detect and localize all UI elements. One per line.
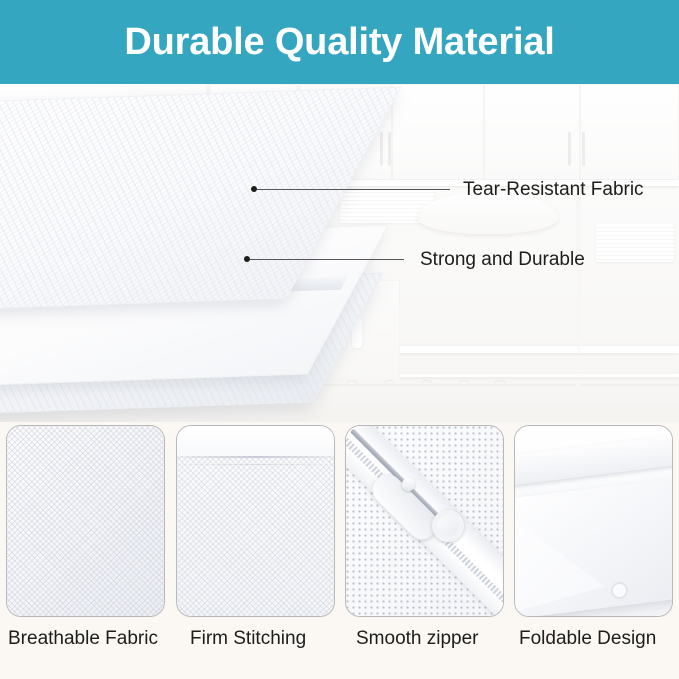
detail-panel-foldable-design[interactable] <box>514 425 673 617</box>
header-banner: Durable Quality Material <box>0 0 679 84</box>
caption-breathable-fabric: Breathable Fabric <box>8 629 158 648</box>
zipper-knob <box>402 478 415 491</box>
caption-foldable-design: Foldable Design <box>519 629 656 648</box>
fabric-hem <box>177 426 334 456</box>
product-infographic: Durable Quality Material <box>0 0 679 679</box>
zipper-pull-ring <box>432 510 464 542</box>
stitch-seam-line <box>177 464 334 465</box>
callout-leader-line <box>257 189 450 190</box>
detail-panel-breathable-fabric[interactable] <box>6 425 165 617</box>
detail-panel-smooth-zipper[interactable] <box>345 425 504 617</box>
hero-image: Tear-Resistant Fabric Strong and Durable <box>0 84 679 422</box>
detail-panel-firm-stitching[interactable] <box>176 425 335 617</box>
stitch-seam-line <box>177 456 334 458</box>
callout-group: Tear-Resistant Fabric Strong and Durable <box>0 84 679 422</box>
caption-group: Breathable Fabric Firm Stitching Smooth … <box>0 624 679 679</box>
page-title: Durable Quality Material <box>124 23 554 61</box>
caption-firm-stitching: Firm Stitching <box>190 629 306 648</box>
caption-smooth-zipper: Smooth zipper <box>356 629 479 648</box>
grommet-icon <box>611 582 628 599</box>
detail-panel-group <box>0 422 679 622</box>
callout-label-strong-durable: Strong and Durable <box>420 250 585 269</box>
breathable-fabric-texture <box>7 426 164 616</box>
callout-leader-line <box>250 259 404 260</box>
callout-label-tear-resistant: Tear-Resistant Fabric <box>463 180 644 199</box>
